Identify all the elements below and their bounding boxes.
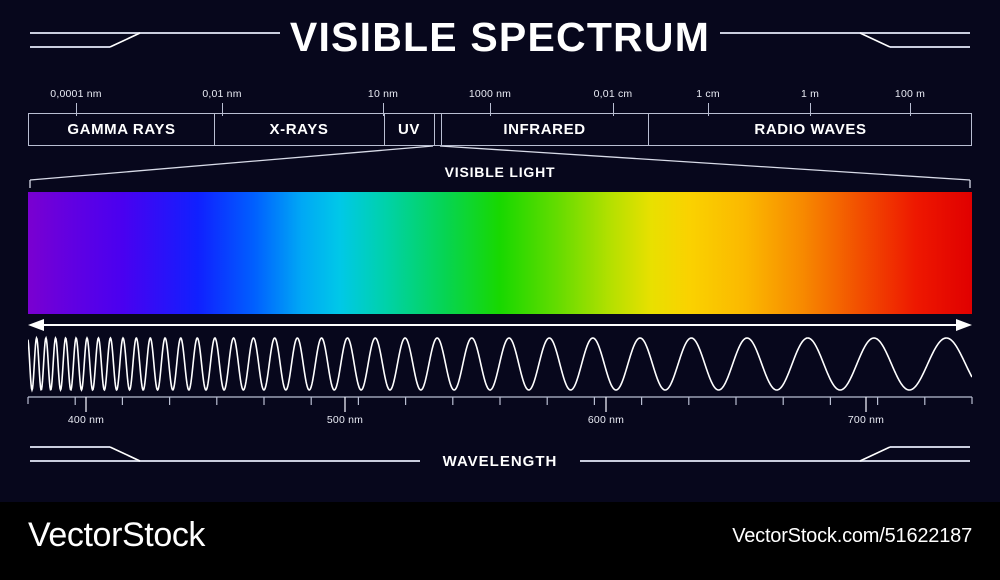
title-decoration-right xyxy=(720,32,970,58)
em-band-separator xyxy=(434,114,435,145)
em-band-container: GAMMA RAYSX-RAYSUVINFRAREDRADIO WAVES xyxy=(28,113,972,146)
em-tick-label: 1000 nm xyxy=(469,88,511,100)
deco-diagonal-left xyxy=(30,446,420,472)
ruler-label: 600 nm xyxy=(588,414,624,426)
em-band-separator xyxy=(648,114,649,145)
deco-diagonal-right xyxy=(720,32,970,58)
ruler-ticks xyxy=(0,396,1000,416)
vectorstock-logo: VectorStock xyxy=(28,516,205,555)
spectrum-gradient-band xyxy=(28,192,972,314)
visible-spectrum-infographic: VISIBLE SPECTRUM 0,0001 nm0,01 nm10 nm10… xyxy=(0,0,1000,580)
em-band-uv: UV xyxy=(384,114,434,145)
em-band-radio-waves: RADIO WAVES xyxy=(648,114,973,145)
title-decoration-left xyxy=(30,32,280,58)
em-tick-label: 1 cm xyxy=(696,88,720,100)
em-tick-label: 10 nm xyxy=(368,88,398,100)
deco-diagonal-right xyxy=(580,446,970,472)
wavelength-decoration-right xyxy=(580,446,970,472)
em-band-gamma-rays: GAMMA RAYS xyxy=(29,114,214,145)
sine-wave-graphic xyxy=(28,332,972,396)
vectorstock-url: VectorStock.com/51622187 xyxy=(732,525,972,548)
ruler-label: 700 nm xyxy=(848,414,884,426)
em-tick-label: 0,0001 nm xyxy=(50,88,101,100)
wavelength-ruler: 400 nm500 nm600 nm700 nm xyxy=(0,396,1000,444)
em-tick-label: 0,01 cm xyxy=(594,88,633,100)
em-band-infrared: INFRARED xyxy=(441,114,648,145)
em-band-separator xyxy=(384,114,385,145)
em-tick-label: 0,01 nm xyxy=(202,88,241,100)
watermark-bar: VectorStock VectorStock.com/51622187 xyxy=(0,502,1000,580)
ruler-label: 500 nm xyxy=(327,414,363,426)
em-tick-label: 100 m xyxy=(895,88,925,100)
em-band-separator xyxy=(214,114,215,145)
deco-diagonal-left xyxy=(30,32,280,58)
em-band-separator xyxy=(441,114,442,145)
ruler-label: 400 nm xyxy=(68,414,104,426)
em-tick-label: 1 m xyxy=(801,88,819,100)
visible-light-label: VISIBLE LIGHT xyxy=(0,164,1000,180)
em-band-x-rays: X-RAYS xyxy=(214,114,384,145)
wavelength-decoration-left xyxy=(30,446,420,472)
